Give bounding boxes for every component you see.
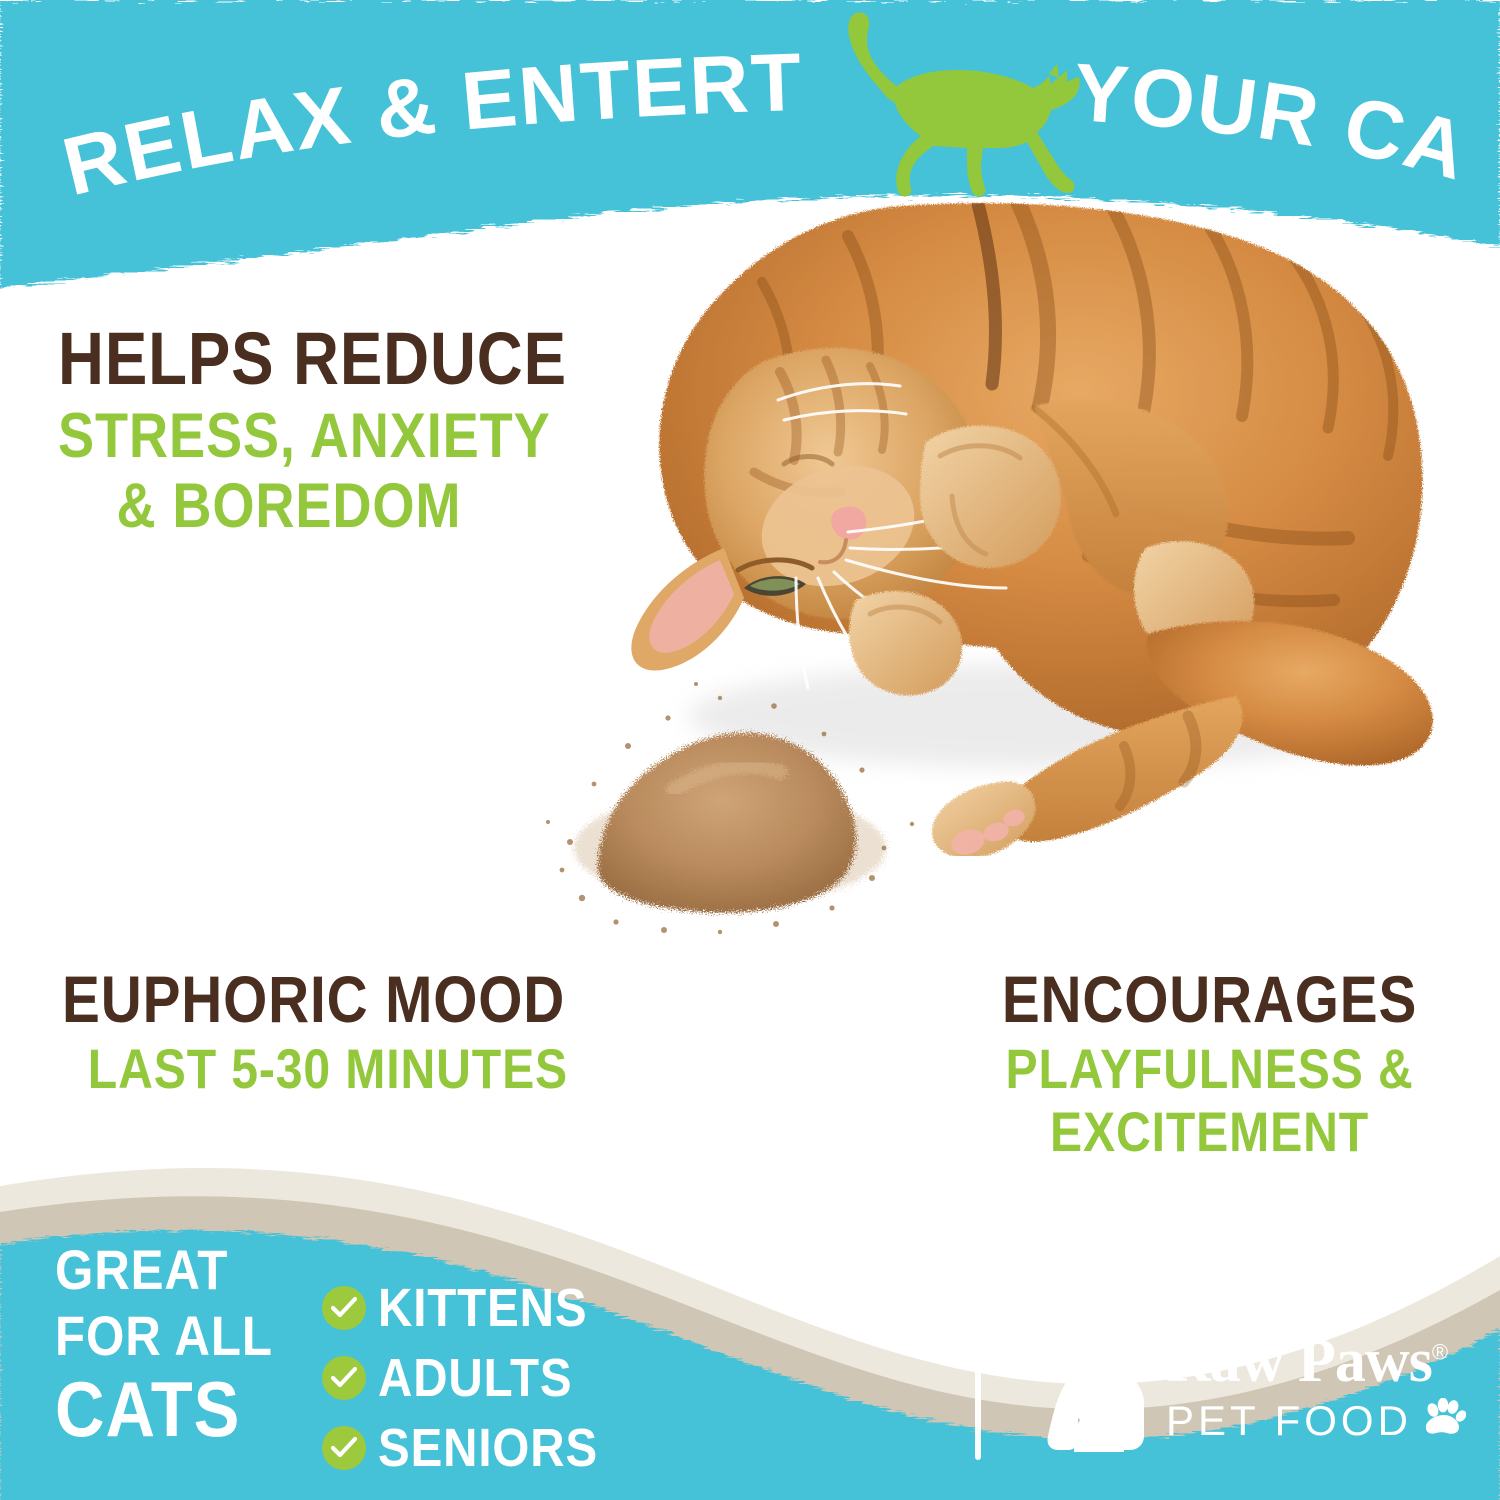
paw-print-icon xyxy=(1424,1398,1466,1443)
checklist-item: SENIORS xyxy=(322,1416,628,1480)
prowling-cat-silhouette-icon xyxy=(805,8,1095,213)
benefit-block-euphoric: EUPHORIC MOOD LAST 5-30 MINUTES xyxy=(62,966,650,1097)
benefit-subline-1: LAST 5-30 MINUTES xyxy=(62,1041,568,1097)
footer-headline-line-2: FOR ALL xyxy=(55,1308,273,1364)
benefit-subline-1: PLAYFULNESS & xyxy=(1002,1041,1417,1097)
footer-headline-line-3: CATS xyxy=(55,1370,273,1448)
benefit-subline-1: STRESS, ANXIETY xyxy=(58,405,567,468)
poster-canvas: RELAX & ENTERTAIN YOUR CAT xyxy=(0,0,1500,1500)
dog-and-cat-silhouette-icon xyxy=(1040,1332,1158,1458)
catnip-powder-pile xyxy=(524,672,936,942)
brand-name-text: Raw Paws xyxy=(1166,1327,1432,1395)
benefit-heading: HELPS REDUCE xyxy=(58,322,567,396)
check-circle-icon xyxy=(322,1426,366,1470)
benefit-block-reduce: HELPS REDUCE STRESS, ANXIETY & BOREDOM xyxy=(58,322,650,538)
check-circle-icon xyxy=(322,1286,366,1330)
brand-logo: Raw Paws® PET FOOD xyxy=(1040,1330,1460,1470)
brand-tagline: PET FOOD xyxy=(1166,1398,1466,1443)
footer-headline-line-1: GREAT xyxy=(55,1242,273,1298)
footer-checklist: KITTENS ADULTS SENIORS xyxy=(322,1276,628,1486)
footer-headline: GREAT FOR ALL CATS xyxy=(55,1242,303,1448)
benefit-heading: EUPHORIC MOOD xyxy=(62,966,568,1032)
benefit-block-encourages: ENCOURAGES PLAYFULNESS & EXCITEMENT xyxy=(968,966,1451,1160)
brand-name: Raw Paws® xyxy=(1166,1330,1466,1392)
checklist-item: KITTENS xyxy=(322,1276,628,1340)
brand-wordmark: Raw Paws® PET FOOD xyxy=(1166,1330,1466,1462)
benefit-heading: ENCOURAGES xyxy=(1002,966,1417,1032)
checklist-item: ADULTS xyxy=(322,1346,628,1410)
benefit-subline-2: & BOREDOM xyxy=(58,475,567,538)
brand-tagline-text: PET FOOD xyxy=(1166,1400,1412,1442)
check-circle-icon xyxy=(322,1356,366,1400)
checklist-label: KITTENS xyxy=(378,1281,587,1335)
registered-mark: ® xyxy=(1432,1339,1447,1364)
checklist-label: ADULTS xyxy=(378,1351,572,1405)
footer-divider xyxy=(975,1332,981,1460)
checklist-label: SENIORS xyxy=(378,1421,598,1475)
